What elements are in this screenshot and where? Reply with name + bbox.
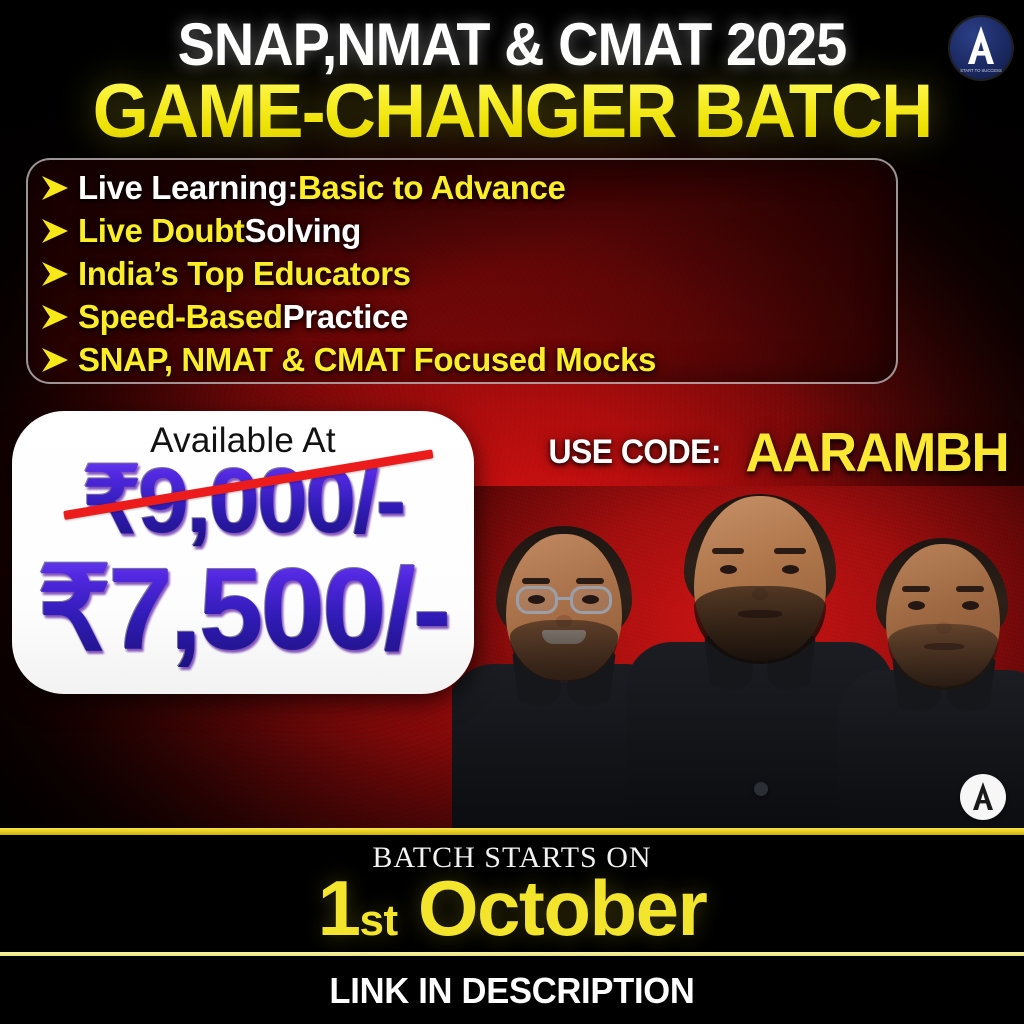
- educators-photo: [452, 486, 1024, 832]
- old-price-value: ₹9,000/-: [12, 455, 474, 547]
- header: SNAP,NMAT & CMAT 2025 GAME-CHANGER BATCH: [0, 0, 1024, 150]
- feature-item-3: India’s Top Educators: [38, 252, 896, 295]
- educator-right-brow-right: [956, 586, 984, 592]
- educator-center-eye-right: [782, 565, 799, 574]
- feature-item-2-rest: Solving: [245, 214, 361, 247]
- new-price-row: ₹7,500/-: [12, 551, 474, 671]
- promo-poster: SNAP,NMAT & CMAT 2025 GAME-CHANGER BATCH…: [0, 0, 1024, 1024]
- batch-date-number: 1: [318, 864, 360, 952]
- promo-code-value: AARAMBH: [746, 420, 1009, 484]
- feature-item-1-rest: Basic to Advance: [298, 171, 565, 204]
- price-card: Available At ₹9,000/- ₹7,500/-: [12, 411, 474, 694]
- educator-left-glasses-bridge: [558, 597, 570, 600]
- feature-item-4: Speed-Based Practice: [38, 295, 896, 338]
- old-price-row: ₹9,000/-: [12, 455, 474, 553]
- feature-item-3-lead: India’s Top Educators: [78, 257, 411, 290]
- educator-left-brow-right: [576, 578, 604, 584]
- shirt-button-icon: [754, 782, 768, 796]
- batch-date-month: October: [418, 864, 707, 952]
- logo-tagline-text: START TO SUCCESS: [960, 68, 1002, 73]
- feature-item-4-lead: Speed-Based: [78, 300, 283, 333]
- educator-right-brow-left: [902, 586, 930, 592]
- feature-item-5-lead: SNAP, NMAT & CMAT Focused Mocks: [78, 343, 656, 376]
- educator-right-eye-left: [908, 601, 925, 610]
- feature-item-2: Live Doubt Solving: [38, 209, 896, 252]
- educator-right: [848, 486, 1024, 832]
- feature-item-5: SNAP, NMAT & CMAT Focused Mocks: [38, 338, 896, 381]
- new-price-value: ₹7,500/-: [12, 551, 474, 667]
- feature-item-2-lead: Live Doubt: [78, 214, 245, 247]
- educator-center-brow-right: [774, 548, 806, 554]
- feature-item-1-lead: Live Learning:: [78, 171, 298, 204]
- promo-code-block: USE CODE: AARAMBH: [490, 424, 1014, 480]
- educator-left-eye-right: [582, 595, 599, 604]
- arrow-right-icon: [38, 302, 72, 332]
- educator-left-eye-left: [528, 595, 545, 604]
- arrow-right-icon: [38, 259, 72, 289]
- educator-right-eye-right: [962, 601, 979, 610]
- educator-left-brow-left: [522, 578, 550, 584]
- feature-item-1: Live Learning: Basic to Advance: [38, 166, 896, 209]
- link-in-description-text: LINK IN DESCRIPTION: [20, 970, 1003, 1012]
- page-title-line2: GAME-CHANGER BATCH: [26, 68, 999, 155]
- batch-date-ordinal: st: [360, 896, 398, 945]
- batch-start-date: 1st October: [0, 869, 1024, 947]
- footer-divider-bottom: [0, 952, 1024, 956]
- educator-center-eye-left: [720, 565, 737, 574]
- aarambh-logo-icon: START TO SUCCESS: [950, 17, 1012, 79]
- feature-item-4-rest: Practice: [283, 300, 408, 333]
- arrow-right-icon: [38, 173, 72, 203]
- features-panel: Live Learning: Basic to Advance Live Dou…: [26, 158, 898, 384]
- use-code-label: USE CODE:: [548, 433, 721, 472]
- footer-divider-top: [0, 828, 1024, 835]
- educator-center-brow-left: [712, 548, 744, 554]
- arrow-right-icon: [38, 345, 72, 375]
- arrow-right-icon: [38, 216, 72, 246]
- aarambh-shirt-logo-icon: [960, 774, 1006, 820]
